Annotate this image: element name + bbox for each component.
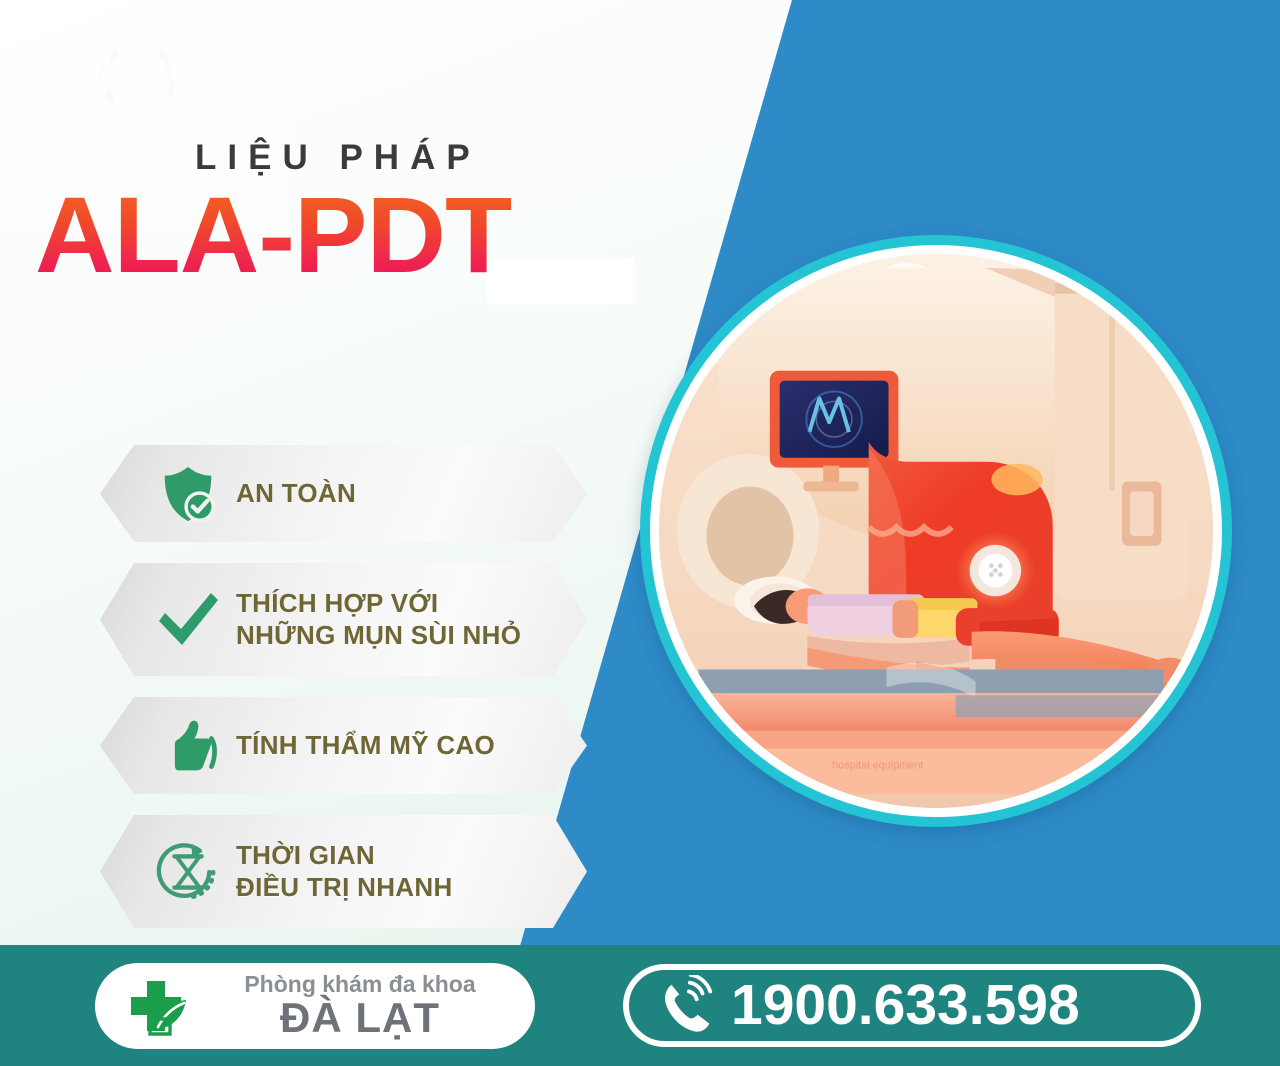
phone-cta[interactable]: 1900.633.598 [623,964,1201,1047]
svg-text:hospital equipment: hospital equipment [832,759,923,771]
headline-kicker: LIỆU PHÁP [195,140,675,175]
feature-badge-an-toan[interactable]: AN TOÀN [100,445,587,542]
clinic-subtitle: Phòng khám đa khoa [207,972,513,996]
medical-cross-leaf-icon [113,971,197,1041]
feature-badge-thoi-gian[interactable]: THỜI GIAN ĐIỀU TRỊ NHANH [100,815,587,928]
white-mask-block [487,258,635,305]
feature-badge-label: THÍCH HỢP VỚI NHỮNG MỤN SÙI NHỎ [236,588,551,651]
clinic-name: ĐÀ LẠT [207,996,513,1040]
phone-ringing-icon [647,975,725,1037]
feature-badge-label: AN TOÀN [236,478,386,510]
hourglass-clock-icon [140,839,236,905]
poster-root: LIỆU PHÁP ALA-PDT AN TOÀN [0,0,1280,1066]
clinic-badge[interactable]: Phòng khám đa khoa ĐÀ LẠT [95,963,535,1049]
photo-ring: hospital equipment [640,235,1232,827]
feature-badge-label: THỜI GIAN ĐIỀU TRỊ NHANH [236,840,483,903]
feature-badge-label: TÍNH THẨM MỸ CAO [236,730,525,762]
check-mark-icon [140,591,236,649]
treatment-photo: hospital equipment [650,245,1222,817]
feature-badge-thich-hop[interactable]: THÍCH HỢP VỚI NHỮNG MỤN SÙI NHỎ [100,563,587,676]
shield-check-icon [140,463,236,525]
feature-badge-tham-my[interactable]: TÍNH THẨM MỸ CAO [100,697,587,794]
feature-badge-list: AN TOÀN THÍCH HỢP VỚI NHỮNG MỤN SÙI NHỎ [100,445,600,949]
clinic-name-block: Phòng khám đa khoa ĐÀ LẠT [207,972,535,1040]
thumbs-up-icon [140,716,236,776]
phone-number: 1900.633.598 [731,977,1080,1034]
